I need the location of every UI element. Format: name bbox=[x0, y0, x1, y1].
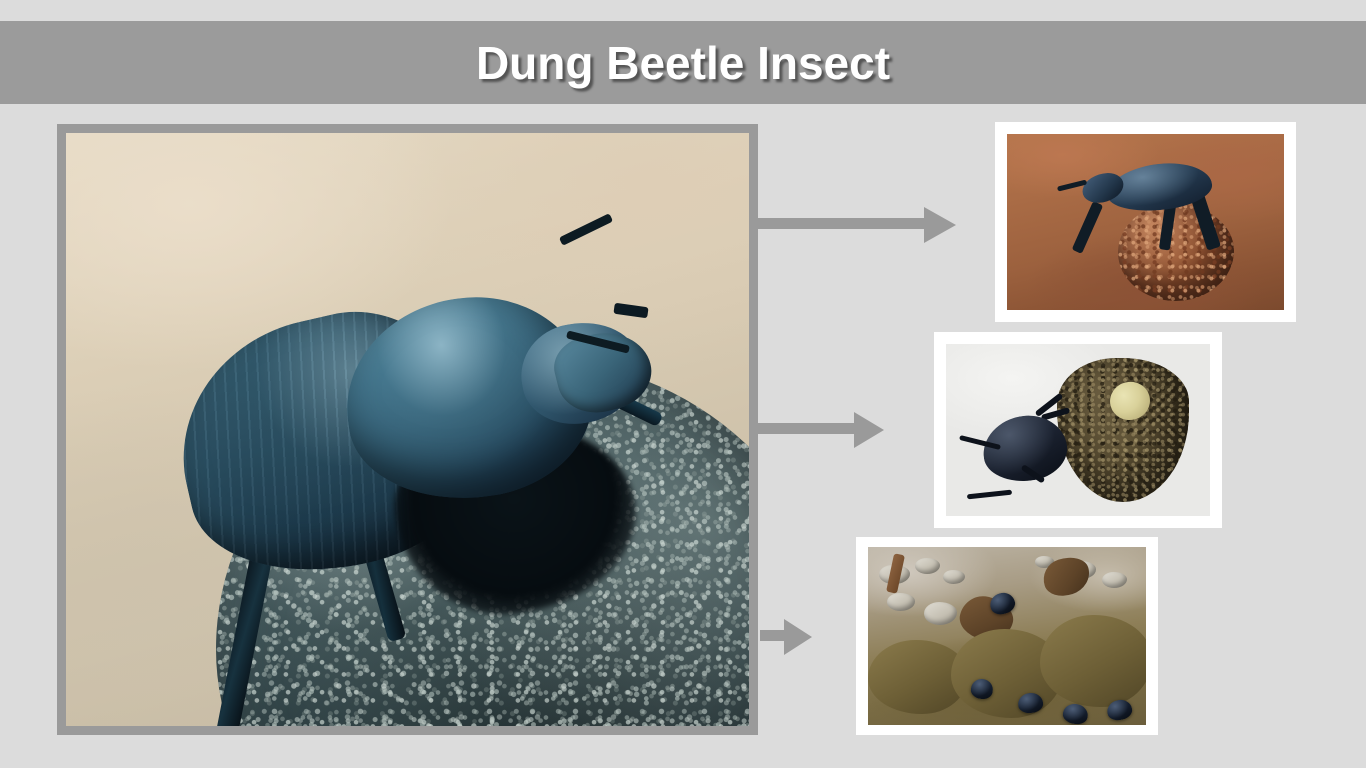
page-title: Dung Beetle Insect bbox=[476, 40, 890, 86]
thumbnail-frame-2[interactable] bbox=[934, 332, 1222, 528]
rock-3 bbox=[943, 570, 965, 584]
rock-4 bbox=[887, 593, 915, 611]
thumbnail-frame-3[interactable] bbox=[856, 537, 1158, 735]
title-bar: Dung Beetle Insect bbox=[0, 21, 1366, 104]
slide-canvas: Dung Beetle Insect bbox=[0, 0, 1366, 768]
t1-beetle-leg-front bbox=[1072, 201, 1104, 254]
thumbnail-beetles-on-dung-pile bbox=[868, 547, 1146, 725]
thumbnail-beetle-rolling-dung-ball bbox=[1007, 134, 1284, 310]
arrow-to-thumb-1 bbox=[758, 204, 958, 246]
arrow-to-thumb-2 bbox=[758, 409, 886, 451]
thumbnail-frame-1[interactable] bbox=[995, 122, 1296, 322]
rock-7 bbox=[1102, 572, 1127, 588]
beetle-mandible bbox=[613, 303, 648, 319]
t2-beetle-leg-rear2 bbox=[967, 490, 1012, 500]
rock-2 bbox=[915, 558, 940, 574]
arrow-to-thumb-3 bbox=[760, 616, 814, 658]
red-dung-ball-shape bbox=[1118, 204, 1234, 301]
t2-brood-ball bbox=[1057, 358, 1189, 502]
main-photo-frame[interactable] bbox=[57, 124, 758, 735]
dung-clump-3 bbox=[1040, 615, 1146, 708]
thumbnail-beetle-with-brood-ball-egg bbox=[946, 344, 1210, 516]
beetle-antenna-upper bbox=[559, 213, 613, 246]
main-photo-dung-beetle bbox=[66, 133, 749, 726]
rock-5 bbox=[924, 602, 957, 625]
